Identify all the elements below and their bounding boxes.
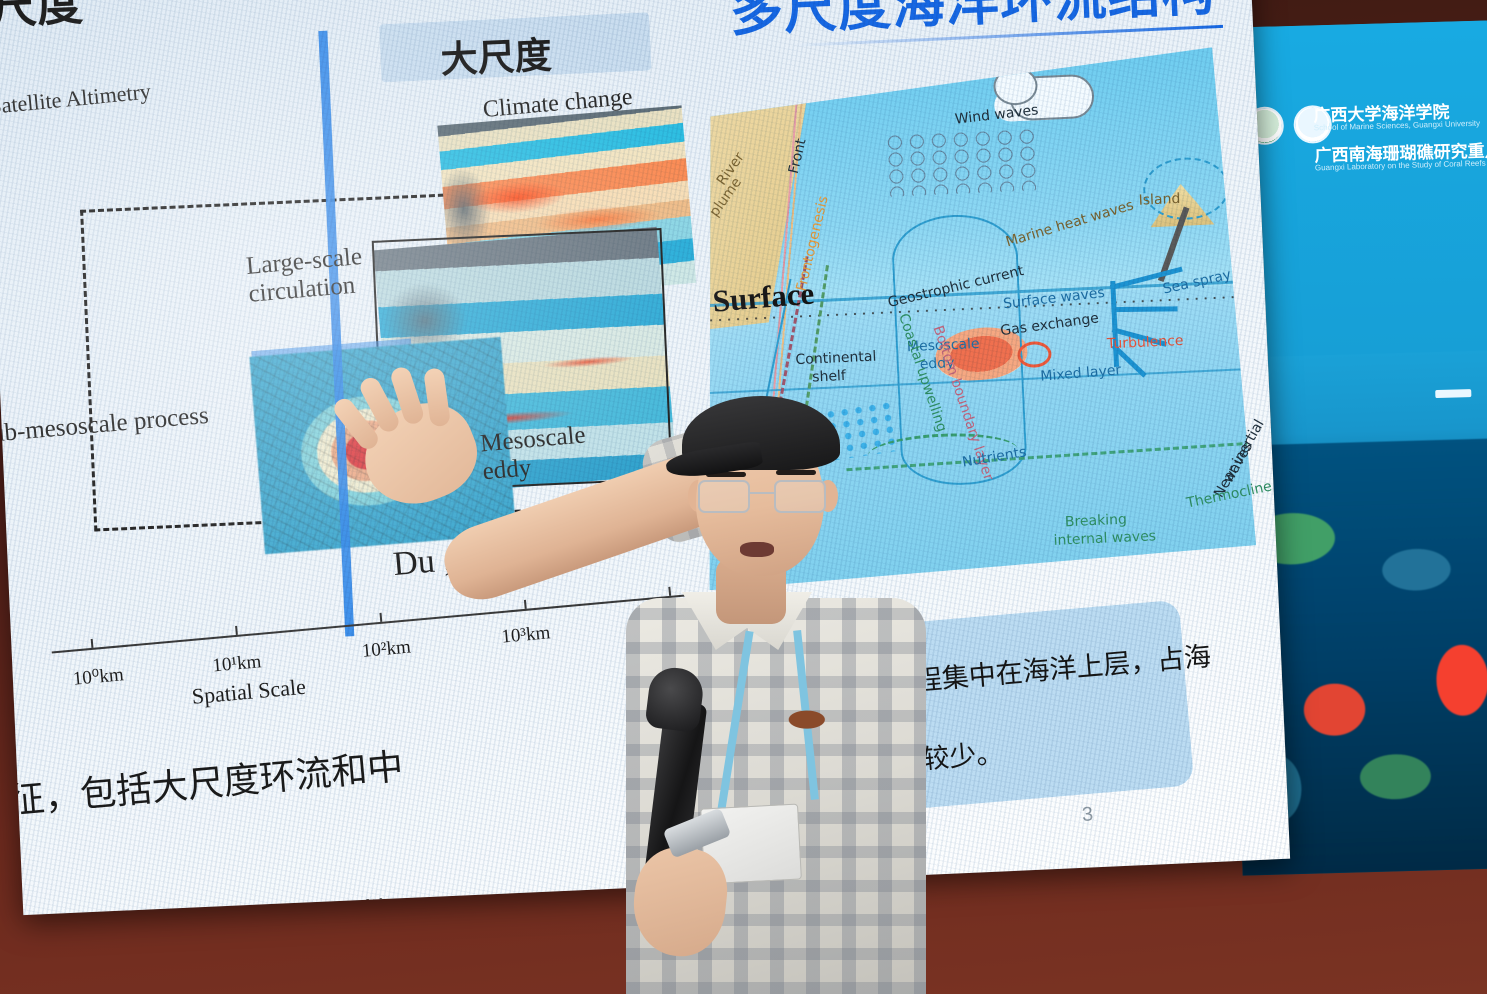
satellite-altimetry-label: Satellite Altimetry	[0, 78, 152, 120]
turbulence-icon	[1017, 341, 1052, 368]
axis-tick	[379, 613, 382, 622]
axis-caption: Spatial Scale	[191, 674, 307, 710]
label-turbulence: Turbulence	[1107, 333, 1184, 353]
axis-tick	[235, 626, 238, 635]
ekman-arrow	[1112, 306, 1178, 312]
left-panel-heading: 尺度	[0, 0, 84, 38]
presenter-glasses	[698, 480, 826, 514]
axis-tick	[91, 639, 94, 648]
presenter	[430, 330, 970, 994]
banner-accent-bar	[1435, 389, 1471, 398]
glasses-bridge	[750, 492, 774, 494]
shirt-logo-patch	[786, 704, 838, 730]
body-text-line-1: 时空尺度特征，包括大尺度环流和中	[0, 738, 405, 841]
large-scale-circulation-label: Large-scale circulation	[245, 243, 366, 309]
presenter-mouth	[740, 542, 774, 557]
scale-badge-label: 大尺度	[439, 25, 552, 84]
photo-scene: 广西大学海洋学院 School of Marine Sciences, Guan…	[0, 0, 1487, 994]
eyebrow-right	[776, 470, 816, 475]
axis-tick-label-1: 10¹km	[212, 651, 263, 677]
slide-page-number: 3	[1081, 803, 1094, 827]
ekman-arrow	[1110, 281, 1119, 367]
axis-tick-label-2: 10²km	[361, 637, 412, 663]
slide-title: 多尺度海洋环流结构	[728, 0, 1217, 47]
large-scale-circulation-text: Large-scale circulation	[245, 243, 363, 308]
label-breaking: Breaking	[1065, 512, 1128, 532]
axis-tick-label-0: 10⁰km	[72, 663, 125, 690]
label-island: Island	[1138, 191, 1180, 210]
wind-waves-symbols	[887, 128, 1040, 197]
lens-left	[698, 480, 750, 513]
finger	[423, 367, 451, 427]
lens-right	[774, 480, 826, 513]
